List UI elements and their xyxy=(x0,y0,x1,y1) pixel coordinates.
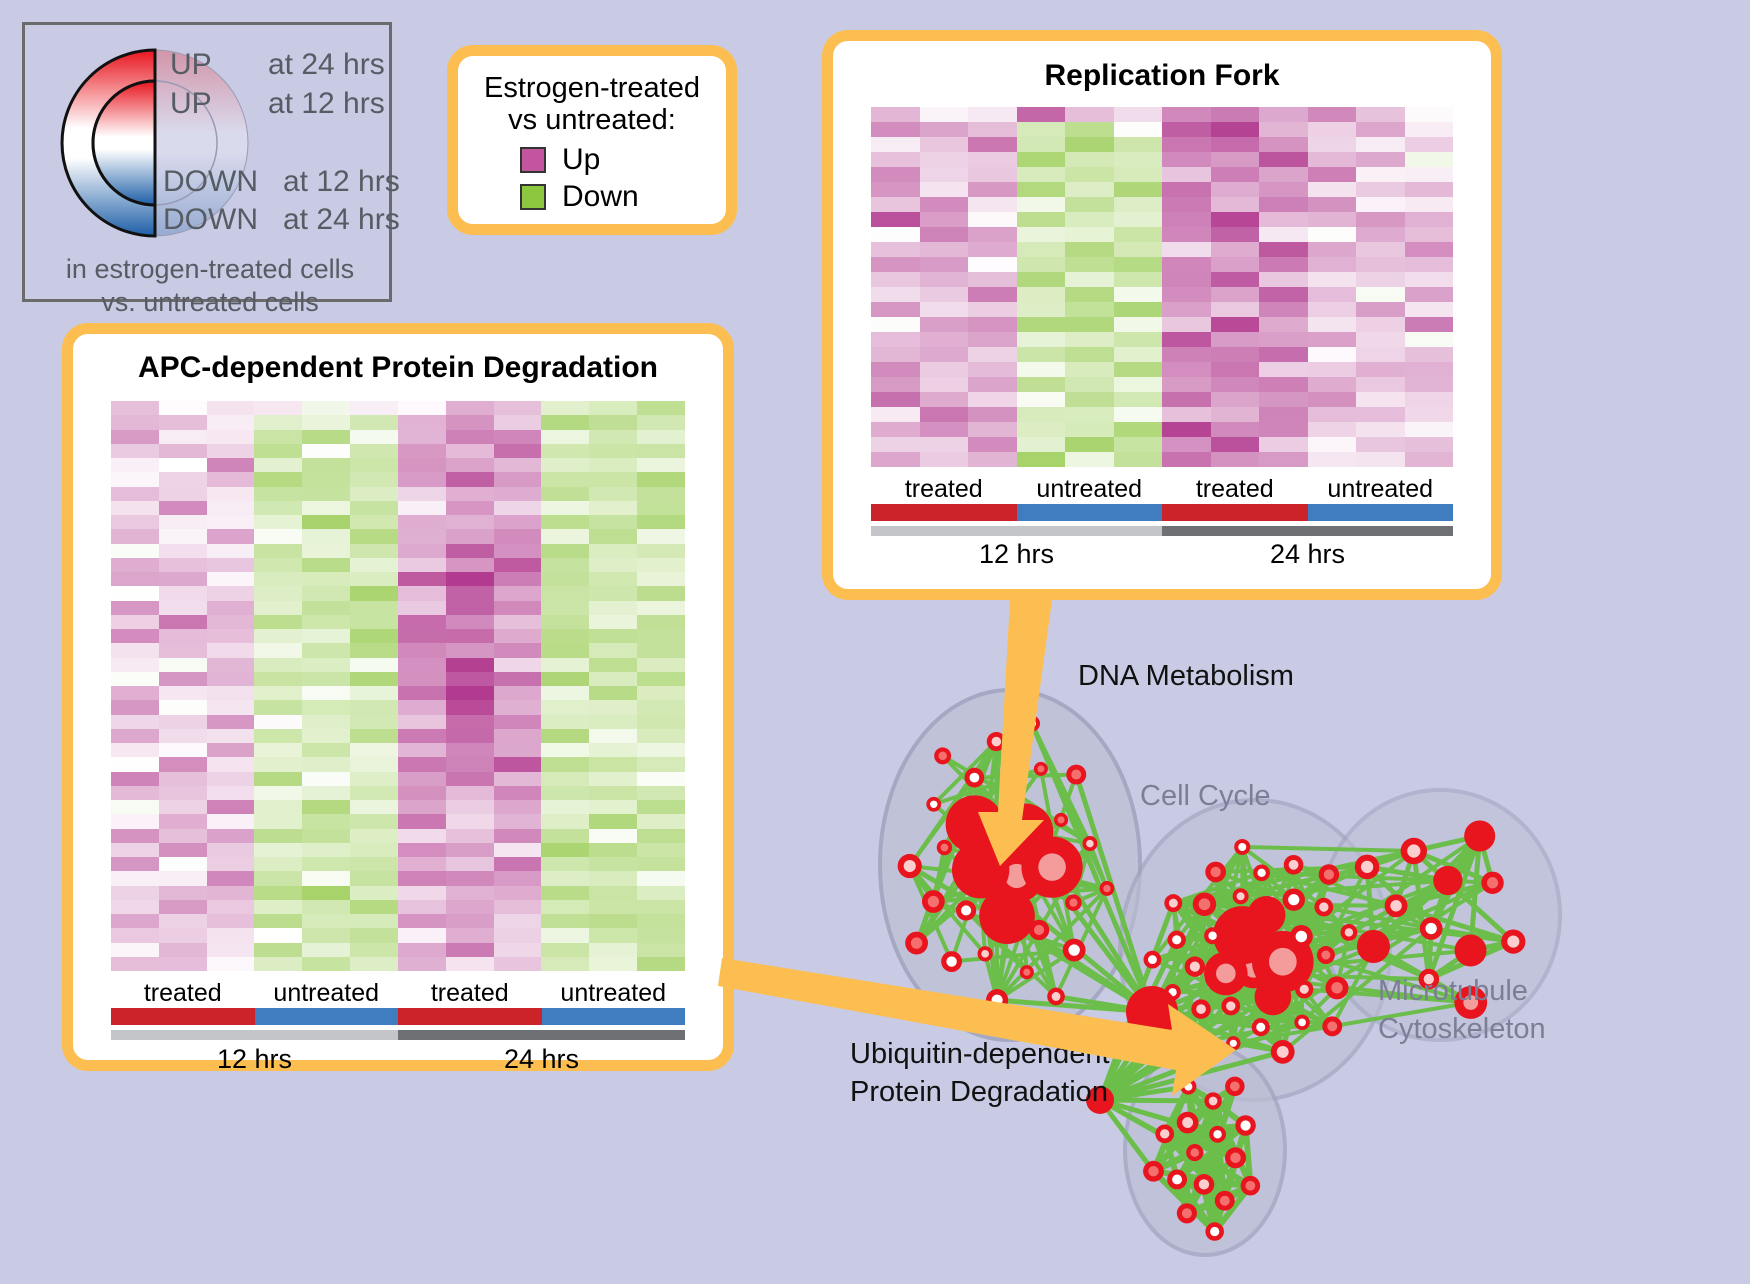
heatmap-cell xyxy=(637,957,685,971)
heatmap-cell xyxy=(159,643,207,657)
heatmap-cell xyxy=(1114,392,1163,407)
heatmap-cell xyxy=(302,615,350,629)
heatmap-cell xyxy=(1065,272,1114,287)
heatmap-cell xyxy=(446,444,494,458)
network-node[interactable] xyxy=(1233,888,1249,904)
heatmap-cell xyxy=(446,615,494,629)
heatmap-cell xyxy=(1259,377,1308,392)
network-node[interactable] xyxy=(946,795,1004,853)
network-node[interactable] xyxy=(1241,1176,1261,1196)
heatmap-cell xyxy=(1211,317,1260,332)
heatmap-cell xyxy=(589,615,637,629)
heatmap-cell xyxy=(541,786,589,800)
network-node[interactable] xyxy=(1255,979,1292,1016)
network-node[interactable] xyxy=(1021,837,1082,898)
heatmap-cell xyxy=(1308,437,1357,452)
heatmap-cell xyxy=(159,572,207,586)
heatmap-cell xyxy=(302,900,350,914)
network-node[interactable] xyxy=(1143,1161,1164,1182)
heatmap-cell xyxy=(350,529,398,543)
network-node[interactable] xyxy=(1205,1222,1224,1241)
heatmap-cell xyxy=(589,672,637,686)
replication-fork-panel: Replication Fork treated untreated treat… xyxy=(822,30,1502,600)
heatmap-cell xyxy=(494,458,542,472)
network-node[interactable] xyxy=(979,888,1035,944)
network-node[interactable] xyxy=(1168,931,1186,949)
heatmap-cell xyxy=(494,544,542,558)
heatmap-cell xyxy=(1405,302,1454,317)
network-node[interactable] xyxy=(1401,838,1427,864)
network-node[interactable] xyxy=(1177,1112,1199,1134)
heatmap-cell xyxy=(637,829,685,843)
network-node[interactable] xyxy=(1188,1032,1209,1053)
heatmap-cell xyxy=(920,257,969,272)
heatmap-cell xyxy=(302,957,350,971)
heatmap-cell xyxy=(111,857,159,871)
heatmap-cell xyxy=(968,152,1017,167)
heatmap-cell xyxy=(494,558,542,572)
heatmap-cell xyxy=(350,843,398,857)
network-node[interactable] xyxy=(1194,1174,1215,1195)
heatmap-cell xyxy=(637,629,685,643)
heatmap-cell xyxy=(446,458,494,472)
heatmap-cell xyxy=(1405,272,1454,287)
network-node[interactable] xyxy=(1319,864,1340,885)
heatmap-cell xyxy=(1211,182,1260,197)
timepoint-bar-segment xyxy=(1162,526,1453,536)
heatmap-cell xyxy=(1065,107,1114,122)
network-node[interactable] xyxy=(1065,894,1082,911)
network-node[interactable] xyxy=(1501,929,1525,953)
heatmap-cell xyxy=(1308,107,1357,122)
legend-items: Up Down xyxy=(458,143,726,214)
network-node[interactable] xyxy=(1290,925,1313,948)
heatmap-cell xyxy=(494,886,542,900)
heatmap-cell xyxy=(637,672,685,686)
network-node[interactable] xyxy=(1177,1203,1197,1223)
heatmap-cell xyxy=(1162,152,1211,167)
network-node[interactable] xyxy=(1247,896,1285,934)
heatmap-cell xyxy=(398,515,446,529)
heatmap-cell xyxy=(254,572,302,586)
heatmap-cell xyxy=(446,401,494,415)
network-node[interactable] xyxy=(1284,855,1304,875)
heatmap-cell xyxy=(589,729,637,743)
apc-timepoint-labels: 12 hrs 24 hrs xyxy=(111,1044,685,1075)
network-node[interactable] xyxy=(1314,898,1333,917)
heatmap-cell xyxy=(254,401,302,415)
heatmap-cell xyxy=(494,515,542,529)
network-node[interactable] xyxy=(1004,783,1018,797)
network-node[interactable] xyxy=(1226,1036,1240,1050)
heatmap-cell xyxy=(398,643,446,657)
heatmap-cell xyxy=(1356,257,1405,272)
heatmap-cell xyxy=(350,729,398,743)
heatmap-cell xyxy=(111,586,159,600)
network-node[interactable] xyxy=(978,946,993,961)
heatmap-cell xyxy=(446,672,494,686)
heatmap-cell xyxy=(968,317,1017,332)
heatmap-cell xyxy=(159,900,207,914)
heatmap-cell xyxy=(111,900,159,914)
network-node[interactable] xyxy=(1225,1077,1244,1096)
heatmap-cell xyxy=(1259,287,1308,302)
heatmap-cell xyxy=(1065,242,1114,257)
heatmap-cell xyxy=(1114,287,1163,302)
up-swatch-icon xyxy=(520,147,546,173)
heatmap-cell xyxy=(446,843,494,857)
heatmap-cell xyxy=(350,914,398,928)
heatmap-cell xyxy=(541,729,589,743)
heatmap-cell xyxy=(254,601,302,615)
network-node[interactable] xyxy=(1253,864,1270,881)
heatmap-cell xyxy=(541,943,589,957)
heatmap-cell xyxy=(1259,437,1308,452)
heatmap-cell xyxy=(1211,122,1260,137)
heatmap-cell xyxy=(1356,212,1405,227)
heatmap-cell xyxy=(446,415,494,429)
heatmap-cell xyxy=(254,700,302,714)
heatmap-cell xyxy=(254,672,302,686)
heatmap-cell xyxy=(920,137,969,152)
network-node[interactable] xyxy=(1355,855,1380,880)
cluster-label-cytoskeleton: Cytoskeleton xyxy=(1378,1013,1546,1046)
network-node[interactable] xyxy=(1357,930,1390,963)
heatmap-cell xyxy=(1211,137,1260,152)
network-node[interactable] xyxy=(1034,762,1048,776)
network-node[interactable] xyxy=(1185,956,1205,976)
heatmap-cell xyxy=(968,137,1017,152)
network-node[interactable] xyxy=(1047,988,1065,1006)
network-node[interactable] xyxy=(1340,924,1357,941)
heatmap-cell xyxy=(302,843,350,857)
network-node[interactable] xyxy=(1215,1191,1235,1211)
heatmap-cell xyxy=(589,900,637,914)
network-node[interactable] xyxy=(1464,820,1495,851)
heatmap-cell xyxy=(1356,302,1405,317)
network-node[interactable] xyxy=(898,854,922,878)
network-node[interactable] xyxy=(1054,813,1068,827)
heatmap-cell xyxy=(111,658,159,672)
heatmap-cell xyxy=(1308,347,1357,362)
network-node[interactable] xyxy=(1322,1016,1342,1036)
heatmap-cell xyxy=(398,458,446,472)
network-node[interactable] xyxy=(1385,894,1408,917)
heatmap-cell xyxy=(446,729,494,743)
network-node[interactable] xyxy=(941,951,962,972)
network-node[interactable] xyxy=(1180,1079,1196,1095)
heatmap-cell xyxy=(920,332,969,347)
network-node[interactable] xyxy=(986,989,1008,1011)
heatmap-cell xyxy=(350,772,398,786)
network-node[interactable] xyxy=(1433,866,1462,895)
network-node[interactable] xyxy=(1100,881,1115,896)
network-node[interactable] xyxy=(1234,839,1250,855)
heatmap-cell xyxy=(1405,227,1454,242)
heatmap-cell xyxy=(446,743,494,757)
network-node[interactable] xyxy=(1063,939,1086,962)
network-node[interactable] xyxy=(1167,1170,1187,1190)
heatmap-cell xyxy=(1162,167,1211,182)
heatmap-cell xyxy=(1114,212,1163,227)
heatmap-cell xyxy=(446,829,494,843)
heatmap-cell xyxy=(1259,362,1308,377)
heatmap-cell xyxy=(1065,137,1114,152)
heatmap-cell xyxy=(589,886,637,900)
heatmap-cell xyxy=(111,800,159,814)
timepoint-bar-segment xyxy=(871,526,1162,536)
network-node[interactable] xyxy=(1024,715,1040,731)
heatmap-cell xyxy=(446,786,494,800)
network-node[interactable] xyxy=(1164,894,1182,912)
heatmap-cell xyxy=(541,558,589,572)
heatmap-cell xyxy=(541,871,589,885)
heatmap-cell xyxy=(1017,407,1066,422)
network-node[interactable] xyxy=(987,732,1006,751)
heatmap-cell xyxy=(1259,197,1308,212)
heatmap-cell xyxy=(1259,332,1308,347)
network-node[interactable] xyxy=(1325,976,1348,999)
heatmap-cell xyxy=(1114,227,1163,242)
heatmap-cell xyxy=(207,843,255,857)
heatmap-cell xyxy=(541,430,589,444)
network-node[interactable] xyxy=(1283,888,1305,910)
heatmap-cell xyxy=(398,729,446,743)
heatmap-cell xyxy=(159,415,207,429)
heatmap-cell xyxy=(589,444,637,458)
heatmap-cell xyxy=(302,458,350,472)
heatmap-cell xyxy=(446,586,494,600)
heatmap-cell xyxy=(494,857,542,871)
wheel-row-0-time: at 24 hrs xyxy=(268,48,385,82)
heatmap-cell xyxy=(111,444,159,458)
heatmap-cell xyxy=(350,886,398,900)
heatmap-cell xyxy=(350,829,398,843)
heatmap-cell xyxy=(111,601,159,615)
network-node[interactable] xyxy=(1191,999,1210,1018)
heatmap-cell xyxy=(446,501,494,515)
heatmap-cell xyxy=(1211,242,1260,257)
heatmap-cell xyxy=(871,107,920,122)
heatmap-cell xyxy=(589,914,637,928)
heatmap-cell xyxy=(637,430,685,444)
apc-condition-colorbar xyxy=(111,1008,685,1025)
heatmap-cell xyxy=(1259,392,1308,407)
heatmap-cell xyxy=(1405,317,1454,332)
heatmap-cell xyxy=(968,182,1017,197)
network-node[interactable] xyxy=(1221,997,1240,1016)
heatmap-cell xyxy=(1114,122,1163,137)
legend-item-up-label: Up xyxy=(562,143,600,177)
network-node[interactable] xyxy=(1420,917,1443,940)
heatmap-cell xyxy=(1017,122,1066,137)
network-node[interactable] xyxy=(926,797,941,812)
heatmap-cell xyxy=(350,586,398,600)
network-node[interactable] xyxy=(1205,862,1226,883)
network-node[interactable] xyxy=(1481,872,1503,894)
heatmap-cell xyxy=(1017,452,1066,467)
heatmap-cell xyxy=(1259,137,1308,152)
heatmap-cell xyxy=(1308,227,1357,242)
network-node[interactable] xyxy=(1294,1015,1309,1030)
heatmap-cell xyxy=(1211,377,1260,392)
heatmap-cell xyxy=(446,871,494,885)
heatmap-cell xyxy=(968,377,1017,392)
heatmap-cell xyxy=(1356,107,1405,122)
heatmap-cell xyxy=(494,615,542,629)
heatmap-cell xyxy=(254,957,302,971)
heatmap-cell xyxy=(968,407,1017,422)
network-node[interactable] xyxy=(1193,892,1217,916)
network-node[interactable] xyxy=(1020,965,1034,979)
network-node[interactable] xyxy=(1066,765,1086,785)
heatmap-cell xyxy=(350,501,398,515)
heatmap-cell xyxy=(1114,137,1163,152)
heatmap-cell xyxy=(1017,392,1066,407)
heatmap-cell xyxy=(494,401,542,415)
heatmap-cell xyxy=(920,122,969,137)
heatmap-cell xyxy=(541,886,589,900)
heatmap-cell xyxy=(1259,257,1308,272)
network-node[interactable] xyxy=(1204,927,1221,944)
heatmap-cell xyxy=(1065,422,1114,437)
heatmap-cell xyxy=(111,743,159,757)
heatmap-cell xyxy=(541,444,589,458)
network-node[interactable] xyxy=(1235,1115,1255,1135)
heatmap-cell xyxy=(1405,452,1454,467)
heatmap-cell xyxy=(254,458,302,472)
heatmap-cell xyxy=(207,572,255,586)
heatmap-cell xyxy=(159,729,207,743)
heatmap-cell xyxy=(1162,347,1211,362)
heatmap-cell xyxy=(302,515,350,529)
network-node[interactable] xyxy=(1209,1126,1226,1143)
network-node[interactable] xyxy=(1295,980,1313,998)
heatmap-cell xyxy=(446,715,494,729)
heatmap-cell xyxy=(350,957,398,971)
heatmap-cell xyxy=(1405,347,1454,362)
heatmap-cell xyxy=(1162,212,1211,227)
network-node[interactable] xyxy=(1317,946,1335,964)
heatmap-cell xyxy=(254,501,302,515)
network-node[interactable] xyxy=(937,840,952,855)
heatmap-cell xyxy=(541,515,589,529)
network-node[interactable] xyxy=(934,747,951,764)
network-node[interactable] xyxy=(1204,952,1248,996)
heatmap-cell xyxy=(637,686,685,700)
network-node[interactable] xyxy=(905,932,928,955)
network-node[interactable] xyxy=(1155,1124,1174,1143)
heatmap-cell xyxy=(254,686,302,700)
heatmap-cell xyxy=(871,437,920,452)
heatmap-cell xyxy=(1356,347,1405,362)
heatmap-cell xyxy=(968,422,1017,437)
heatmap-cell xyxy=(1211,392,1260,407)
heatmap-cell xyxy=(1017,107,1066,122)
heatmap-cell xyxy=(589,544,637,558)
heatmap-cell xyxy=(494,472,542,486)
heatmap-cell xyxy=(1162,272,1211,287)
heatmap-cell xyxy=(159,814,207,828)
heatmap-cell xyxy=(637,601,685,615)
network-node[interactable] xyxy=(1126,986,1178,1038)
rf-cond-3: untreated xyxy=(1308,475,1454,504)
network-node[interactable] xyxy=(1144,951,1162,969)
heatmap-cell xyxy=(541,743,589,757)
network-node[interactable] xyxy=(1455,935,1487,967)
heatmap-cell xyxy=(111,458,159,472)
heatmap-cell xyxy=(1308,332,1357,347)
heatmap-cell xyxy=(1162,332,1211,347)
heatmap-cell xyxy=(871,422,920,437)
heatmap-cell xyxy=(968,347,1017,362)
apc-time-0: 12 hrs xyxy=(111,1044,398,1075)
network-node[interactable] xyxy=(1271,1040,1295,1064)
heatmap-cell xyxy=(589,800,637,814)
heatmap-cell xyxy=(589,786,637,800)
network-node[interactable] xyxy=(956,900,976,920)
heatmap-cell xyxy=(494,415,542,429)
heatmap-cell xyxy=(159,672,207,686)
heatmap-cell xyxy=(254,415,302,429)
heatmap-cell xyxy=(494,829,542,843)
heatmap-cell xyxy=(111,886,159,900)
condition-bar-segment xyxy=(871,504,1017,521)
wheel-row-2-time: at 12 hrs xyxy=(283,165,400,199)
heatmap-cell xyxy=(350,615,398,629)
heatmap-cell xyxy=(111,829,159,843)
heatmap-cell xyxy=(159,586,207,600)
heatmap-cell xyxy=(111,843,159,857)
heatmap-cell xyxy=(1114,302,1163,317)
network-node[interactable] xyxy=(922,890,945,913)
heatmap-cell xyxy=(494,928,542,942)
heatmap-cell xyxy=(350,814,398,828)
apc-cond-2: treated xyxy=(398,979,542,1008)
network-node[interactable] xyxy=(1252,1018,1270,1036)
heatmap-cell xyxy=(1211,167,1260,182)
heatmap-cell xyxy=(589,643,637,657)
heatmap-cell xyxy=(111,544,159,558)
network-node[interactable] xyxy=(1082,836,1097,851)
network-node[interactable] xyxy=(1186,1144,1203,1161)
network-node[interactable] xyxy=(1029,920,1049,940)
heatmap-cell xyxy=(302,643,350,657)
heatmap-cell xyxy=(1017,332,1066,347)
heatmap-cell xyxy=(254,829,302,843)
apc-timepoint-colorbar xyxy=(111,1030,685,1040)
network-node[interactable] xyxy=(965,768,985,788)
heatmap-cell xyxy=(1356,377,1405,392)
heatmap-cell xyxy=(111,430,159,444)
heatmap-cell xyxy=(254,658,302,672)
heatmap-cell xyxy=(254,814,302,828)
heatmap-cell xyxy=(968,242,1017,257)
heatmap-cell xyxy=(1405,122,1454,137)
heatmap-cell xyxy=(1308,182,1357,197)
network-node[interactable] xyxy=(1204,1092,1221,1109)
heatmap-cell xyxy=(207,857,255,871)
heatmap-cell xyxy=(1211,362,1260,377)
heatmap-cell xyxy=(494,572,542,586)
heatmap-cell xyxy=(1162,242,1211,257)
heatmap-cell xyxy=(350,743,398,757)
heatmap-cell xyxy=(494,487,542,501)
heatmap-cell xyxy=(350,700,398,714)
cluster-label-cell-cycle: Cell Cycle xyxy=(1140,780,1271,813)
heatmap-cell xyxy=(302,757,350,771)
network-node[interactable] xyxy=(1225,1147,1246,1168)
